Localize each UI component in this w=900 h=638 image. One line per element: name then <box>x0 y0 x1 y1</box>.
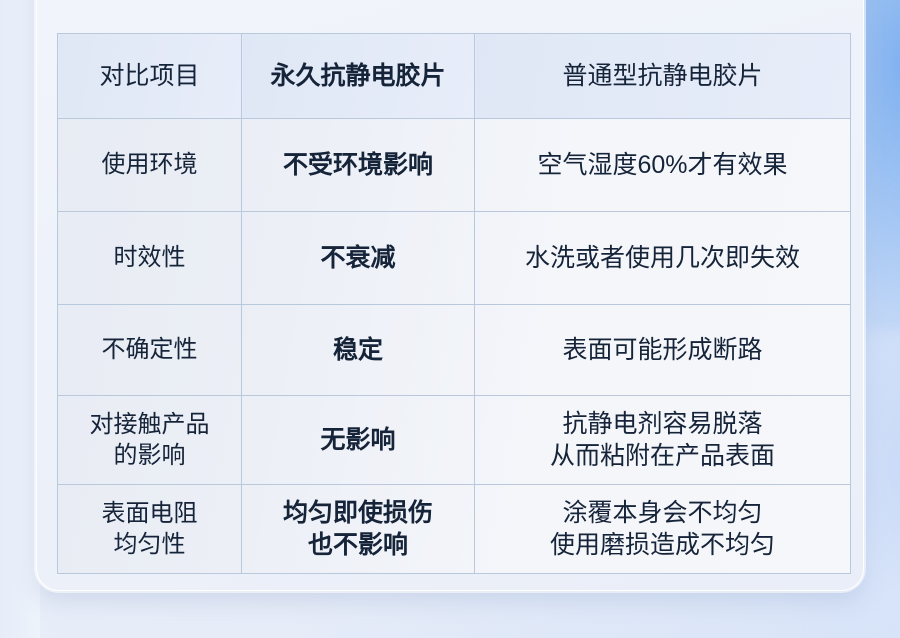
text-line: 均匀即使损伤 <box>248 497 468 530</box>
cell-permanent-environment: 不受环境影响 <box>242 119 475 212</box>
cell-permanent-surface-resistance: 均匀即使损伤 也不影响 <box>242 485 475 574</box>
left-background-tint <box>0 0 40 638</box>
header-cell-permanent: 永久抗静电胶片 <box>242 34 475 119</box>
comparison-table-container: 对比项目 永久抗静电胶片 普通型抗静电胶片 使用环境 不受环境影响 空气湿度60… <box>57 33 850 574</box>
cell-permanent-uncertainty: 稳定 <box>242 305 475 396</box>
cell-item-surface-resistance: 表面电阻 均匀性 <box>58 485 242 574</box>
table-row: 对接触产品 的影响 无影响 抗静电剂容易脱落 从而粘附在产品表面 <box>58 396 851 485</box>
cell-item-product-contact: 对接触产品 的影响 <box>58 396 242 485</box>
cell-item-durability: 时效性 <box>58 212 242 305</box>
cell-ordinary-durability: 水洗或者使用几次即失效 <box>475 212 851 305</box>
text-line: 从而粘附在产品表面 <box>481 440 844 473</box>
table-row: 时效性 不衰减 水洗或者使用几次即失效 <box>58 212 851 305</box>
table-row: 使用环境 不受环境影响 空气湿度60%才有效果 <box>58 119 851 212</box>
text-line: 的影响 <box>64 440 235 471</box>
header-cell-ordinary: 普通型抗静电胶片 <box>475 34 851 119</box>
comparison-table: 对比项目 永久抗静电胶片 普通型抗静电胶片 使用环境 不受环境影响 空气湿度60… <box>57 33 851 574</box>
table-row: 不确定性 稳定 表面可能形成断路 <box>58 305 851 396</box>
cell-ordinary-uncertainty: 表面可能形成断路 <box>475 305 851 396</box>
table-row: 表面电阻 均匀性 均匀即使损伤 也不影响 涂覆本身会不均匀 使用磨损造成不均匀 <box>58 485 851 574</box>
text-line: 也不影响 <box>248 529 468 562</box>
cell-item-environment: 使用环境 <box>58 119 242 212</box>
page-root: 对比项目 永久抗静电胶片 普通型抗静电胶片 使用环境 不受环境影响 空气湿度60… <box>0 0 900 638</box>
text-line: 均匀性 <box>64 529 235 560</box>
text-line: 对接触产品 <box>64 409 235 440</box>
text-line: 抗静电剂容易脱落 <box>481 408 844 441</box>
cell-ordinary-environment: 空气湿度60%才有效果 <box>475 119 851 212</box>
text-line: 涂覆本身会不均匀 <box>481 497 844 530</box>
text-line: 使用磨损造成不均匀 <box>481 529 844 562</box>
cell-item-uncertainty: 不确定性 <box>58 305 242 396</box>
table-header-row: 对比项目 永久抗静电胶片 普通型抗静电胶片 <box>58 34 851 119</box>
cell-permanent-durability: 不衰减 <box>242 212 475 305</box>
cell-ordinary-surface-resistance: 涂覆本身会不均匀 使用磨损造成不均匀 <box>475 485 851 574</box>
cell-ordinary-product-contact: 抗静电剂容易脱落 从而粘附在产品表面 <box>475 396 851 485</box>
header-cell-item: 对比项目 <box>58 34 242 119</box>
text-line: 表面电阻 <box>64 498 235 529</box>
cell-permanent-product-contact: 无影响 <box>242 396 475 485</box>
